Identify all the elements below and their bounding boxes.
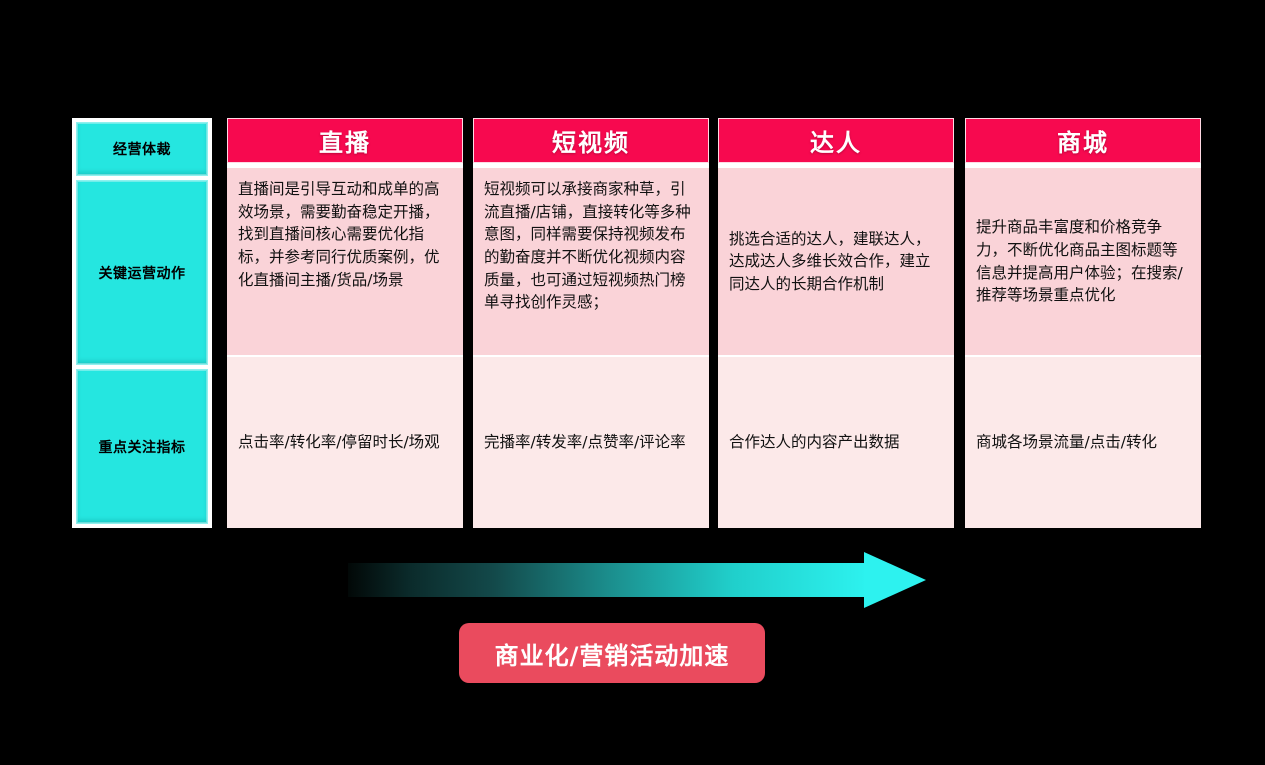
diagram-canvas: 经营体裁 关键运营动作 重点关注指标 直播 直播间是引导互动和成单的高效场景，需… <box>0 0 1265 765</box>
cell-mall-operations-text: 提升商品丰富度和价格竞争力，不断优化商品主图标题等信息并提高用户体验；在搜索/推… <box>976 216 1191 307</box>
cell-livestream-operations: 直播间是引导互动和成单的高效场景，需要勤奋稳定开播，找到直播间核心需要优化指标，… <box>227 168 463 355</box>
arrow-shaft-icon <box>348 563 868 597</box>
column-shortvideo: 短视频 短视频可以承接商家种草，引流直播/店铺，直接转化等多种意图，同样需要保持… <box>473 118 709 528</box>
row-label-operations: 关键运营动作 <box>76 180 208 365</box>
cell-talent-metrics: 合作达人的内容产出数据 <box>718 355 954 528</box>
cell-mall-operations: 提升商品丰富度和价格竞争力，不断优化商品主图标题等信息并提高用户体验；在搜索/推… <box>965 168 1201 355</box>
cell-livestream-metrics-text: 点击率/转化率/停留时长/场观 <box>238 431 453 454</box>
row-label-metrics: 重点关注指标 <box>76 369 208 524</box>
column-livestream: 直播 直播间是引导互动和成单的高效场景，需要勤奋稳定开播，找到直播间核心需要优化… <box>227 118 463 528</box>
column-talent-header: 达人 <box>718 118 954 163</box>
banner-commercialization: 商业化/营销活动加速 <box>459 623 765 683</box>
cell-talent-operations: 挑选合适的达人，建联达人，达成达人多维长效合作，建立同达人的长期合作机制 <box>718 168 954 355</box>
row-label-metrics-text: 重点关注指标 <box>99 437 186 457</box>
arrow-head-icon <box>864 552 926 608</box>
column-talent: 达人 挑选合适的达人，建联达人，达成达人多维长效合作，建立同达人的长期合作机制 … <box>718 118 954 528</box>
column-mall-title: 商城 <box>1057 123 1109 158</box>
column-mall-header: 商城 <box>965 118 1201 163</box>
row-label-header-text: 经营体裁 <box>113 139 171 159</box>
progression-arrow <box>348 552 926 609</box>
column-shortvideo-title: 短视频 <box>552 123 630 158</box>
cell-mall-metrics: 商城各场景流量/点击/转化 <box>965 355 1201 528</box>
row-label-operations-text: 关键运营动作 <box>99 263 186 283</box>
cell-livestream-operations-text: 直播间是引导互动和成单的高效场景，需要勤奋稳定开播，找到直播间核心需要优化指标，… <box>238 178 453 291</box>
cell-talent-metrics-text: 合作达人的内容产出数据 <box>729 431 944 454</box>
cell-livestream-metrics: 点击率/转化率/停留时长/场观 <box>227 355 463 528</box>
column-shortvideo-header: 短视频 <box>473 118 709 163</box>
cell-mall-metrics-text: 商城各场景流量/点击/转化 <box>976 431 1191 454</box>
column-livestream-title: 直播 <box>319 123 371 158</box>
row-label-column: 经营体裁 关键运营动作 重点关注指标 <box>72 118 212 528</box>
banner-label: 商业化/营销活动加速 <box>495 636 730 671</box>
row-label-header: 经营体裁 <box>76 122 208 176</box>
cell-shortvideo-operations: 短视频可以承接商家种草，引流直播/店铺，直接转化等多种意图，同样需要保持视频发布… <box>473 168 709 355</box>
column-livestream-header: 直播 <box>227 118 463 163</box>
cell-shortvideo-operations-text: 短视频可以承接商家种草，引流直播/店铺，直接转化等多种意图，同样需要保持视频发布… <box>484 178 699 314</box>
cell-shortvideo-metrics: 完播率/转发率/点赞率/评论率 <box>473 355 709 528</box>
cell-talent-operations-text: 挑选合适的达人，建联达人，达成达人多维长效合作，建立同达人的长期合作机制 <box>729 228 944 296</box>
cell-shortvideo-metrics-text: 完播率/转发率/点赞率/评论率 <box>484 431 699 454</box>
column-talent-title: 达人 <box>810 123 862 158</box>
column-mall: 商城 提升商品丰富度和价格竞争力，不断优化商品主图标题等信息并提高用户体验；在搜… <box>965 118 1201 528</box>
